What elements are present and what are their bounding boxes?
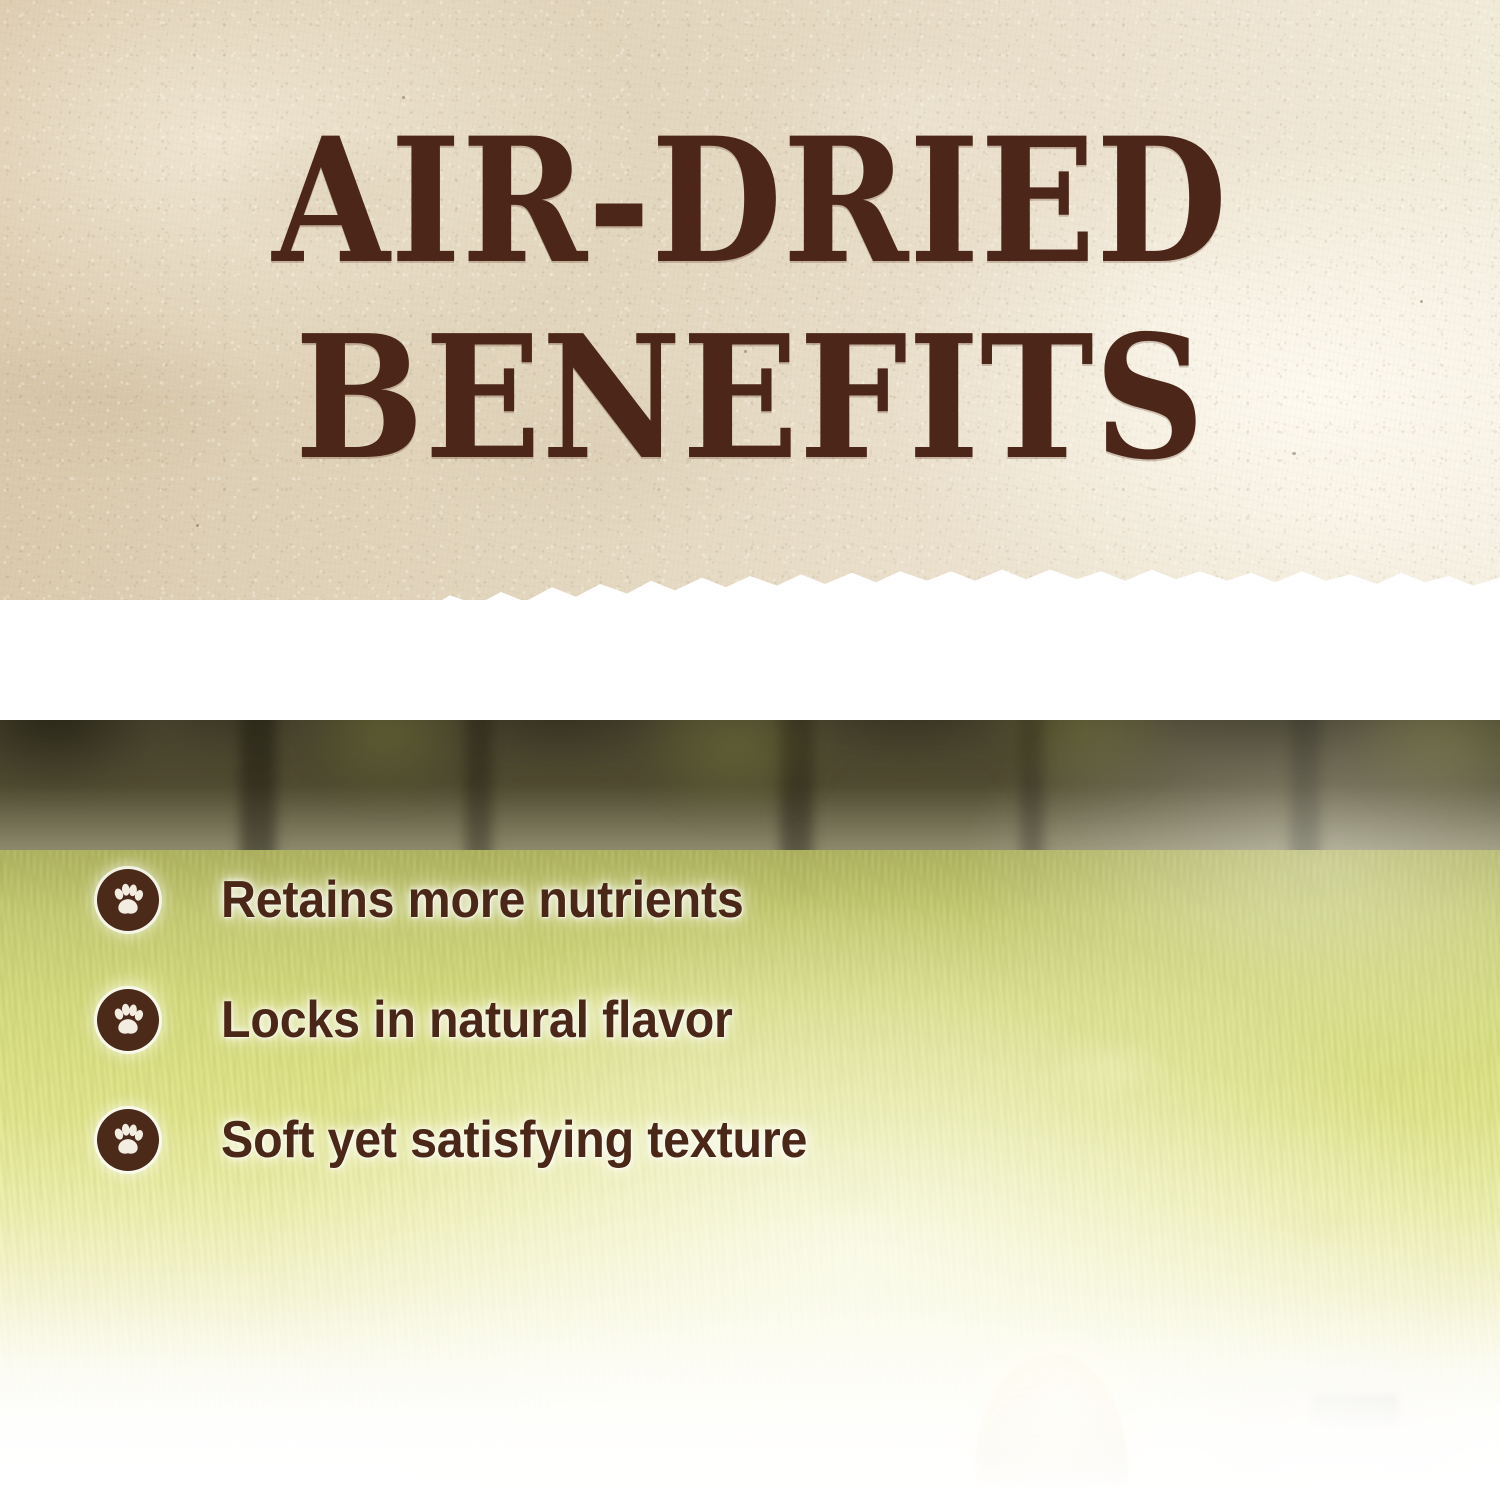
page-title: AIR-DRIED BENEFITS: [0, 118, 1500, 480]
benefits-list: Retains more nutrients Locks in natural …: [97, 862, 1097, 1222]
benefit-label: Soft yet satisfying texture: [221, 1110, 807, 1170]
paw-icon: [97, 869, 159, 931]
paw-icon: [97, 1109, 159, 1171]
benefit-label: Locks in natural flavor: [221, 990, 733, 1050]
benefit-label: Retains more nutrients: [221, 870, 744, 930]
list-item: Soft yet satisfying texture: [97, 1102, 1097, 1178]
paw-icon: [97, 989, 159, 1051]
paper-fleck: [196, 524, 199, 527]
air-dried-benefits-poster: AIR-DRIED BENEFITS: [0, 0, 1500, 1491]
headline-line-2: BENEFITS: [75, 317, 1425, 480]
headline-line-1: AIR-DRIED: [90, 118, 1410, 283]
woman-hair-sun-glow: [970, 1345, 1138, 1491]
list-item: Retains more nutrients: [97, 862, 1097, 938]
woman-walking: [930, 1345, 1230, 1491]
list-item: Locks in natural flavor: [97, 982, 1097, 1058]
